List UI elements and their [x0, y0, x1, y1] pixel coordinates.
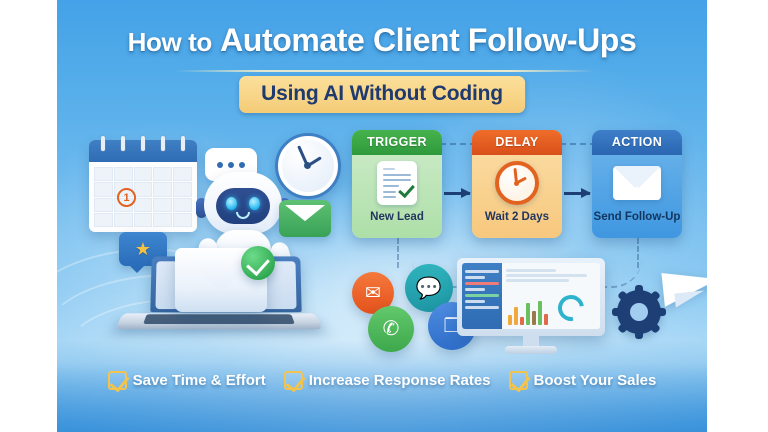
benefit-item[interactable]: Increase Response Rates — [284, 371, 491, 390]
page-title: How to Automate Client Follow-Ups — [57, 22, 707, 59]
flow-step-trigger-header: TRIGGER — [352, 130, 442, 155]
checkbox-checked-icon — [108, 371, 127, 390]
title-main: Automate Client Follow-Ups — [220, 22, 636, 58]
envelope-icon — [592, 155, 682, 211]
flow-step-trigger-label: New Lead — [352, 211, 442, 229]
infographic-artboard: How to Automate Client Follow-Ups Using … — [57, 0, 707, 432]
dashboard-donut-chart — [553, 290, 589, 326]
mail-glyph: ✉ — [365, 284, 381, 303]
title-lead: How to — [128, 27, 212, 57]
flow-arrow-icon — [444, 192, 470, 195]
laptop-keyboard — [143, 314, 295, 324]
benefits-row: Save Time & Effort Increase Response Rat… — [57, 371, 707, 390]
robot-smile — [236, 212, 250, 219]
dashboard-content — [502, 263, 600, 329]
chat-glyph: 💬 — [416, 278, 442, 299]
paper-plane-icon — [663, 270, 707, 316]
calendar-rings — [89, 136, 197, 152]
title-divider — [175, 70, 595, 72]
flow-arrow-icon — [564, 192, 590, 195]
checkbox-checked-icon — [284, 371, 303, 390]
benefit-label: Save Time & Effort — [133, 372, 266, 389]
calendar-grid — [94, 167, 192, 227]
robot-eye-right — [249, 197, 260, 210]
document-check-icon — [352, 155, 442, 211]
automation-flowchart: TRIGGER New Lead DELAY Wait 2 Days ACTIO… — [352, 130, 682, 242]
flow-dashed-connector — [397, 238, 399, 268]
clock-icon — [472, 155, 562, 211]
dashboard-sidebar — [462, 263, 502, 329]
subtitle-banner: Using AI Without Coding — [239, 76, 525, 113]
benefit-item[interactable]: Boost Your Sales — [509, 371, 657, 390]
dashboard-monitor-illustration — [457, 258, 605, 358]
green-check-badge-icon — [241, 246, 275, 280]
monitor-screen — [462, 263, 600, 329]
flow-step-delay-label: Wait 2 Days — [472, 211, 562, 229]
robot-head — [204, 172, 282, 234]
dashboard-bar-chart — [508, 299, 548, 325]
benefit-label: Increase Response Rates — [309, 372, 491, 389]
calendar-illustration: 1 — [89, 140, 197, 232]
benefit-label: Boost Your Sales — [534, 372, 657, 389]
flow-step-action-header: ACTION — [592, 130, 682, 155]
checkbox-checked-icon — [509, 371, 528, 390]
green-envelope-icon — [279, 200, 331, 237]
flow-dashed-connector — [560, 143, 596, 145]
monitor-stand-foot — [505, 346, 557, 354]
calendar-day-marker: 1 — [117, 188, 136, 207]
robot-eye-left — [226, 197, 237, 210]
flow-step-action-label: Send Follow-Up — [592, 211, 682, 229]
robot-visor — [216, 188, 270, 224]
gear-icon — [617, 290, 661, 334]
flow-step-delay[interactable]: DELAY Wait 2 Days — [472, 130, 562, 238]
subtitle-text: Using AI Without Coding — [261, 82, 503, 106]
screenshot-canvas: How to Automate Client Follow-Ups Using … — [0, 0, 768, 432]
flow-step-trigger[interactable]: TRIGGER New Lead — [352, 130, 442, 238]
flow-step-delay-header: DELAY — [472, 130, 562, 155]
monitor-frame — [457, 258, 605, 336]
phone-circle-icon: ✆ — [368, 306, 414, 352]
flow-dashed-connector — [440, 143, 476, 145]
benefit-item[interactable]: Save Time & Effort — [108, 371, 266, 390]
phone-glyph: ✆ — [383, 319, 400, 339]
flow-step-action[interactable]: ACTION Send Follow-Up — [592, 130, 682, 238]
